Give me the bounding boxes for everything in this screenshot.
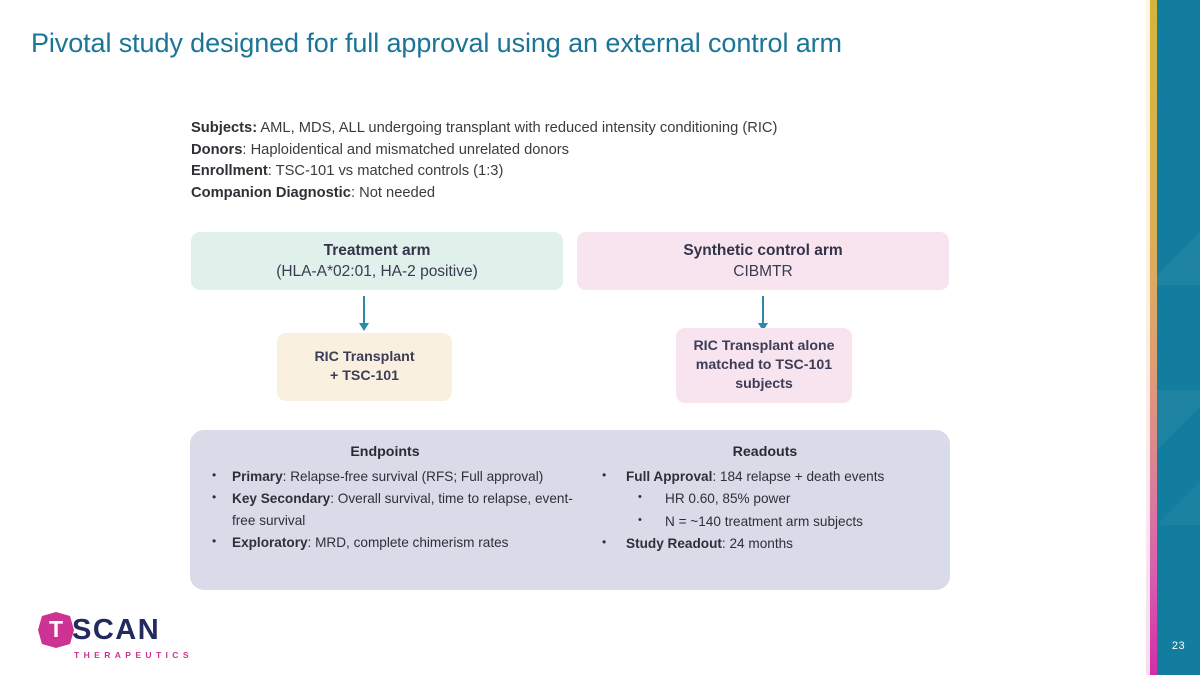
endpoint-label-primary: Primary <box>232 469 283 484</box>
readout-label-study-readout: Study Readout <box>626 536 722 551</box>
list-item: • Full Approval: 184 relapse + death eve… <box>580 466 950 488</box>
endpoint-label-key-secondary: Key Secondary <box>232 491 330 506</box>
endpoints-list: • Primary: Relapse-free survival (RFS; F… <box>190 466 580 554</box>
summary-line-companion-diagnostic: Companion Diagnostic: Not needed <box>191 183 777 205</box>
bullet-icon: • <box>212 487 216 509</box>
endpoints-column: Endpoints • Primary: Relapse-free surviv… <box>190 442 580 555</box>
treatment-arm-title: Treatment arm <box>324 240 431 261</box>
tscan-logo: T SCAN THERAPEUTICS <box>38 612 213 660</box>
summary-line-donors: Donors: Haploidentical and mismatched un… <box>191 140 777 162</box>
summary-value-subjects: AML, MDS, ALL undergoing transplant with… <box>257 120 777 136</box>
treatment-arm-box: Treatment arm (HLA-A*02:01, HA-2 positiv… <box>191 232 563 290</box>
list-item: • Key Secondary: Overall survival, time … <box>190 488 580 531</box>
summary-label-subjects: Subjects: <box>191 120 257 136</box>
decorative-triangle-icon <box>1157 390 1200 480</box>
summary-label-companion-diagnostic: Companion Diagnostic <box>191 185 351 201</box>
edge-teal-panel <box>1157 0 1200 675</box>
readout-value-study-readout: : 24 months <box>722 536 793 551</box>
readouts-title: Readouts <box>580 442 950 464</box>
control-node-line1: RIC Transplant alone <box>693 337 834 356</box>
control-node-box: RIC Transplant alone matched to TSC-101 … <box>676 328 852 403</box>
readout-sub-hr-power: HR 0.60, 85% power <box>665 491 790 506</box>
summary-label-donors: Donors <box>191 142 242 158</box>
summary-label-enrollment: Enrollment <box>191 163 268 179</box>
summary-value-donors: : Haploidentical and mismatched unrelate… <box>242 142 569 158</box>
endpoint-value-exploratory: : MRD, complete chimerism rates <box>308 535 509 550</box>
treatment-node-box: RIC Transplant + TSC-101 <box>277 333 452 401</box>
arrow-shaft <box>363 296 365 324</box>
slide-canvas: 23 Pivotal study designed for full appro… <box>0 0 1200 675</box>
page-title: Pivotal study designed for full approval… <box>31 28 842 59</box>
arrow-shaft <box>762 296 764 324</box>
list-item: • HR 0.60, 85% power <box>580 488 950 510</box>
decorative-triangle-icon <box>1157 215 1200 285</box>
bullet-icon: • <box>602 532 606 554</box>
readout-sub-sample-size: N = ~140 treatment arm subjects <box>665 514 863 529</box>
endpoints-readouts-panel: Endpoints • Primary: Relapse-free surviv… <box>190 430 950 590</box>
logo-tagline: THERAPEUTICS <box>74 650 193 660</box>
bullet-icon: • <box>638 510 642 532</box>
study-summary-block: Subjects: AML, MDS, ALL undergoing trans… <box>191 118 777 204</box>
control-node-line3: subjects <box>693 375 834 394</box>
bullet-icon: • <box>638 487 642 509</box>
list-item: • N = ~140 treatment arm subjects <box>580 511 950 533</box>
summary-line-enrollment: Enrollment: TSC-101 vs matched controls … <box>191 161 777 183</box>
control-arm-box: Synthetic control arm CIBMTR <box>577 232 949 290</box>
readout-label-full-approval: Full Approval <box>626 469 712 484</box>
readouts-list-2: • Study Readout: 24 months <box>580 533 950 555</box>
list-item: • Exploratory: MRD, complete chimerism r… <box>190 532 580 554</box>
edge-gradient-strip <box>1150 0 1157 675</box>
control-arm-title: Synthetic control arm <box>683 240 842 261</box>
summary-value-companion-diagnostic: : Not needed <box>351 185 435 201</box>
bullet-icon: • <box>212 531 216 553</box>
readout-value-full-approval: : 184 relapse + death events <box>712 469 884 484</box>
readouts-sublist: • HR 0.60, 85% power • N = ~140 treatmen… <box>580 488 950 532</box>
readouts-column: Readouts • Full Approval: 184 relapse + … <box>580 442 950 556</box>
arrow-down-icon <box>357 296 371 331</box>
page-number: 23 <box>1157 640 1200 652</box>
summary-value-enrollment: : TSC-101 vs matched controls (1:3) <box>268 163 504 179</box>
treatment-node-line1: RIC Transplant <box>314 348 414 367</box>
arrow-down-icon <box>756 296 770 331</box>
endpoints-title: Endpoints <box>190 442 580 464</box>
summary-line-subjects: Subjects: AML, MDS, ALL undergoing trans… <box>191 118 777 140</box>
control-arm-subtitle: CIBMTR <box>733 261 792 282</box>
bullet-icon: • <box>602 465 606 487</box>
list-item: • Primary: Relapse-free survival (RFS; F… <box>190 466 580 488</box>
bullet-icon: • <box>212 465 216 487</box>
treatment-arm-subtitle: (HLA-A*02:01, HA-2 positive) <box>276 261 478 282</box>
treatment-node-line2: + TSC-101 <box>314 367 414 386</box>
readouts-list: • Full Approval: 184 relapse + death eve… <box>580 466 950 488</box>
control-node-line2: matched to TSC-101 <box>693 356 834 375</box>
logo-mark-letter: T <box>49 618 63 641</box>
logo-wordmark: SCAN <box>72 614 160 647</box>
endpoint-value-primary: : Relapse-free survival (RFS; Full appro… <box>283 469 544 484</box>
endpoint-label-exploratory: Exploratory <box>232 535 308 550</box>
decorative-triangle-icon <box>1157 470 1200 525</box>
arrow-head <box>359 323 369 331</box>
heptagon-t-icon: T <box>38 612 74 648</box>
list-item: • Study Readout: 24 months <box>580 533 950 555</box>
